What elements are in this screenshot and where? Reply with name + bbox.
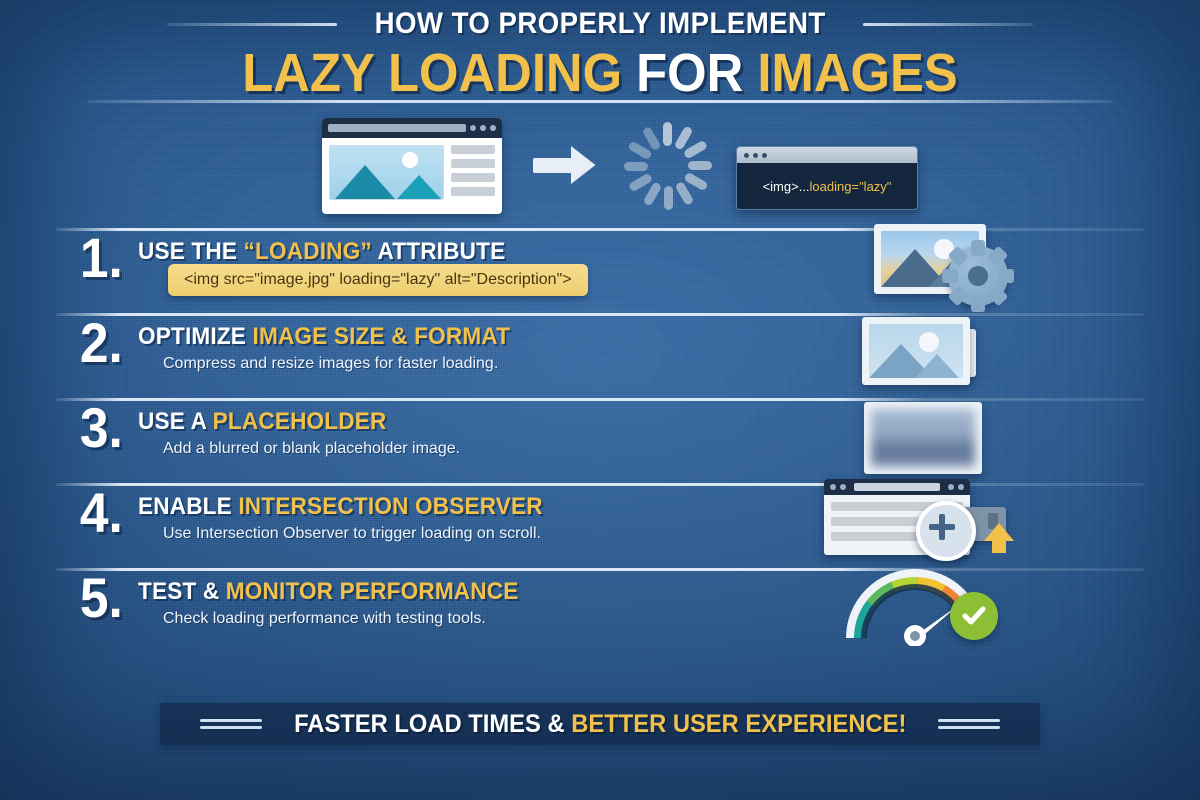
gear-tooth — [971, 296, 985, 312]
step-item: 3. USE A PLACEHOLDER Add a blurred or bl… — [0, 398, 1200, 483]
address-bar — [854, 483, 940, 491]
content-line — [451, 173, 495, 182]
step-heading-white: ENABLE — [138, 493, 238, 520]
title-for: FOR — [636, 43, 757, 103]
header-divider — [88, 100, 1112, 103]
mountain-icon — [397, 175, 441, 199]
dash — [200, 719, 262, 722]
code-window-text: <img>...loading="lazy" — [737, 163, 917, 209]
browser-window-icon — [322, 118, 502, 214]
spinner-blade — [643, 181, 663, 206]
window-dot-icon — [948, 484, 954, 490]
window-dot-icon — [762, 153, 767, 158]
window-dot-icon — [840, 484, 846, 490]
gear-tooth — [998, 269, 1014, 283]
address-bar — [328, 124, 466, 132]
footer-text-gold: BETTER USER EXPERIENCE! — [571, 710, 906, 738]
photo-frame-large — [862, 317, 970, 385]
step-number: 3. — [80, 400, 123, 456]
footer-text: FASTER LOAD TIMES & BETTER USER EXPERIEN… — [294, 710, 906, 739]
step-number: 1. — [80, 230, 123, 286]
sun-icon — [402, 152, 418, 168]
kicker-text: HOW TO PROPERLY IMPLEMENT — [374, 7, 825, 41]
step-heading: OPTIMIZE IMAGE SIZE & FORMAT — [138, 323, 510, 351]
step-heading: TEST & MONITOR PERFORMANCE — [138, 578, 518, 606]
step-heading-gold: IMAGE SIZE & FORMAT — [253, 323, 511, 350]
window-dot-icon — [753, 153, 758, 158]
code-snippet: <img src="image.jpg" loading="lazy" alt=… — [168, 264, 588, 296]
gear-hole — [968, 266, 988, 286]
mountain-icon — [915, 354, 959, 378]
step-description: Check loading performance with testing t… — [163, 610, 486, 628]
window-dot-icon — [470, 125, 476, 131]
photo-thumbnail-icon — [329, 145, 444, 200]
step-heading-white: OPTIMIZE — [138, 323, 253, 350]
browser-body — [322, 138, 502, 207]
step-number: 2. — [80, 315, 123, 371]
step-divider — [56, 313, 1144, 316]
spinner-blade — [624, 162, 648, 171]
step-heading-gold: MONITOR PERFORMANCE — [226, 578, 519, 605]
arrow-shaft — [533, 158, 575, 173]
step-item: 4. ENABLE INTERSECTION OBSERVER Use Inte… — [0, 483, 1200, 568]
step-heading: ENABLE INTERSECTION OBSERVER — [138, 493, 543, 521]
kicker-rule-right — [863, 23, 1033, 26]
gear-icon — [948, 246, 1008, 306]
content-lines — [451, 145, 495, 200]
code-tag: <img>... — [763, 179, 810, 194]
window-dot-icon — [830, 484, 836, 490]
title-images: IMAGES — [757, 43, 957, 103]
step-heading: USE THE “LOADING” ATTRIBUTE — [138, 238, 505, 266]
photo-content — [869, 324, 963, 378]
spinner-blade — [688, 161, 712, 170]
infographic-poster: HOW TO PROPERLY IMPLEMENT LAZY LOADING F… — [0, 0, 1200, 800]
content-line — [451, 159, 495, 168]
code-attr: loading="lazy" — [810, 179, 892, 194]
step-number: 4. — [80, 485, 123, 541]
dash-decoration-left — [200, 719, 262, 729]
check-icon — [961, 603, 987, 629]
content-line — [451, 187, 495, 196]
resize-images-icon — [862, 317, 970, 385]
content-line — [451, 145, 495, 154]
dash — [938, 719, 1000, 722]
step-heading-white: USE THE — [138, 238, 244, 265]
dash — [200, 726, 262, 729]
checkmark-badge-icon — [950, 592, 998, 640]
kicker-row: HOW TO PROPERLY IMPLEMENT — [0, 4, 1200, 44]
step-heading-white2: ATTRIBUTE — [372, 238, 505, 265]
window-dot-icon — [490, 125, 496, 131]
page-title: LAZY LOADING FOR IMAGES — [36, 46, 1164, 101]
step-item: 2. OPTIMIZE IMAGE SIZE & FORMAT Compress… — [0, 313, 1200, 398]
dash — [938, 726, 1000, 729]
scroll-viewport-icon — [824, 479, 1024, 565]
spinner-blade — [683, 140, 708, 160]
mountain-icon — [335, 165, 395, 199]
browser-titlebar — [322, 118, 502, 138]
step-description: Use Intersection Observer to trigger loa… — [163, 525, 541, 543]
arrow-right-icon — [533, 146, 603, 184]
spinner-blade — [663, 122, 672, 146]
footer-banner: FASTER LOAD TIMES & BETTER USER EXPERIEN… — [160, 703, 1040, 745]
step-description: Add a blurred or blank placeholder image… — [163, 440, 460, 458]
step-item: 1. USE THE “LOADING” ATTRIBUTE <img src=… — [0, 228, 1200, 313]
step-heading: USE A PLACEHOLDER — [138, 408, 386, 436]
kicker-rule-left — [167, 23, 337, 26]
steps-list: 1. USE THE “LOADING” ATTRIBUTE <img src=… — [0, 228, 1200, 653]
performance-gauge-icon — [842, 566, 1012, 646]
arrow-stem — [992, 541, 1006, 553]
photo-frame — [864, 402, 982, 474]
window-dot-icon — [744, 153, 749, 158]
spinner-blade — [664, 186, 673, 210]
step-heading-gold: “LOADING” — [244, 238, 372, 265]
scroll-up-arrow-icon — [984, 523, 1014, 541]
zoom-in-icon — [916, 501, 976, 561]
step-heading-white: USE A — [138, 408, 213, 435]
loading-spinner-icon — [620, 118, 716, 214]
footer-text-white: FASTER LOAD TIMES & — [294, 710, 571, 738]
code-window-icon: <img>...loading="lazy" — [736, 146, 918, 210]
blurred-photo-content — [871, 409, 975, 467]
blurred-placeholder-icon — [864, 402, 982, 474]
arrow-head — [571, 146, 595, 184]
step-divider — [56, 398, 1144, 401]
hero-illustration: <img>...loading="lazy" — [300, 110, 940, 222]
title-lazy-loading: LAZY LOADING — [242, 43, 636, 103]
window-dot-icon — [958, 484, 964, 490]
step-number: 5. — [80, 570, 123, 626]
window-dot-icon — [480, 125, 486, 131]
gear-tooth — [942, 269, 958, 283]
step-heading-gold: PLACEHOLDER — [213, 408, 387, 435]
gear-tooth — [971, 240, 985, 256]
code-window-titlebar — [737, 147, 917, 163]
image-with-gear-icon — [874, 224, 986, 294]
step-heading-white: TEST & — [138, 578, 226, 605]
dash-decoration-right — [938, 719, 1000, 729]
step-item: 5. TEST & MONITOR PERFORMANCE Check load… — [0, 568, 1200, 653]
header: HOW TO PROPERLY IMPLEMENT LAZY LOADING F… — [0, 4, 1200, 101]
step-heading-gold: INTERSECTION OBSERVER — [238, 493, 542, 520]
browser-titlebar — [824, 479, 970, 495]
step-description: Compress and resize images for faster lo… — [163, 355, 498, 373]
